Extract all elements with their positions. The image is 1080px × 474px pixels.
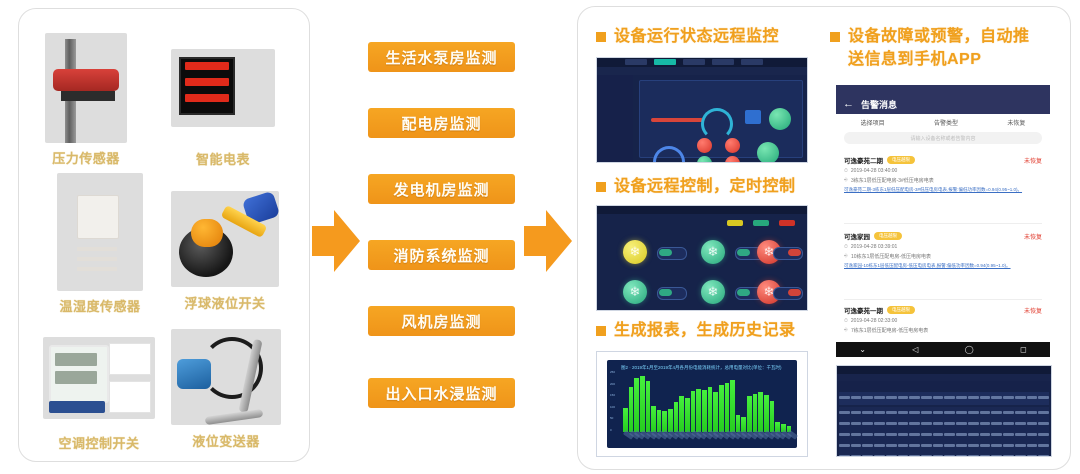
- monitoring-label-generator-room[interactable]: 发电机房监测: [368, 174, 515, 204]
- bullet-square-icon: [830, 32, 840, 42]
- table-cell: [944, 433, 955, 436]
- monitoring-label-fire-system[interactable]: 消防系统监测: [368, 240, 515, 270]
- alarm-type-badge: 电压越限: [887, 156, 915, 164]
- filter-alarm-type[interactable]: 告警类型: [934, 118, 958, 127]
- phone-navigation-bar: ⌄ ◁ ◯ ◻: [836, 342, 1050, 357]
- sensor-grid: 压力传感器 智能电表 温湿度传感器 浮球液位开关: [19, 9, 309, 461]
- alarm-time-row: ⏱ 2019-04-28 02:33:00: [844, 318, 1042, 324]
- list-divider: [844, 299, 1042, 300]
- history-record-table-screenshot[interactable]: [836, 365, 1052, 457]
- table-cell: [886, 444, 897, 447]
- table-cell: [956, 422, 967, 425]
- table-cell: [886, 411, 897, 414]
- table-row[interactable]: [839, 418, 1049, 429]
- sensor-card-meter: 智能电表: [171, 49, 275, 168]
- legend-running: [753, 220, 769, 226]
- chevron-down-icon[interactable]: ⌄: [859, 345, 866, 354]
- chart-y-tick: 0: [610, 428, 612, 432]
- dashboard-tab[interactable]: [683, 59, 705, 65]
- dashboard-tab[interactable]: [712, 59, 734, 65]
- alarm-project-name: 可逸豪苑一期: [844, 305, 883, 315]
- table-row-cells: [839, 440, 1049, 451]
- alarm-device-row: ⎆ 7栋东1层低压配电房-低压电房电表: [844, 327, 1042, 334]
- table-cell: [1027, 433, 1038, 436]
- table-cell: [1038, 422, 1049, 425]
- bar-chart: 图2 · 2019年1月至2019年4月各月份电能消耗统计，总用电量对比(单位：…: [607, 360, 797, 448]
- alarm-type-badge: 电压越限: [874, 232, 902, 240]
- table-cell: [898, 422, 909, 425]
- alarm-device: 10栋东1层低压配电房-低压电房电表: [851, 253, 931, 260]
- feature-heading-text: 生成报表，生成历史记录: [614, 319, 796, 342]
- alarm-detail[interactable]: 可逸豪苑二期-3栋东1层低压配电房-3#低压电房电表,报警:偏低功率因数=0.9…: [844, 187, 1042, 193]
- table-cell: [1027, 422, 1038, 425]
- table-header-cells: [839, 392, 1049, 405]
- chart-bar: [640, 376, 645, 432]
- table-cell: [1038, 411, 1049, 414]
- sensor-card-temp: 温湿度传感器: [57, 173, 143, 315]
- arrow-head: [546, 210, 572, 272]
- chart-bar: [730, 380, 735, 433]
- table-cell: [968, 455, 979, 457]
- table-row-cells: [839, 429, 1049, 440]
- table-cell: [874, 422, 885, 425]
- alarm-time-row: ⏱ 2019-04-28 03:40:00: [844, 168, 1042, 174]
- table-cell: [980, 455, 991, 457]
- sensor-label: 压力传感器: [52, 148, 120, 167]
- pressure-sensor-photo: [45, 33, 127, 143]
- chart-bar: [691, 391, 696, 432]
- chart-bar: [753, 394, 758, 433]
- table-cell: [886, 433, 897, 436]
- feature-heading-text: 设备运行状态远程监控: [614, 25, 779, 48]
- dashboard-tab[interactable]: [625, 59, 647, 65]
- table-cell: [839, 444, 850, 447]
- recents-square-icon[interactable]: ◻: [1020, 345, 1027, 354]
- table-cell: [980, 444, 991, 447]
- status-block-icon: [745, 110, 761, 124]
- ac-accessory-tag-top: [109, 343, 151, 375]
- alarm-device-row: ⎆ 3栋东1层低压配电房-3#低压电房电表: [844, 177, 1042, 184]
- table-cell: [1027, 411, 1038, 414]
- table-cell: [1038, 444, 1049, 447]
- table-cell: [933, 422, 944, 425]
- float-level-switch-photo: [171, 191, 279, 287]
- table-cell: [991, 422, 1002, 425]
- fan-icon-4[interactable]: ❄: [623, 280, 647, 304]
- alarm-list-item[interactable]: 可逸豪苑一期 电压越限 未恢复 ⏱ 2019-04-28 02:33:00 ⎆ …: [844, 305, 1042, 334]
- table-cell: [851, 422, 862, 425]
- transmitter-probe-secondary: [205, 409, 264, 425]
- table-cell: [862, 411, 873, 414]
- home-circle-icon[interactable]: ◯: [965, 345, 974, 354]
- table-cell: [909, 411, 920, 414]
- fan-toggle-6[interactable]: [773, 287, 803, 300]
- alarm-type-badge: 电压越限: [887, 306, 915, 314]
- fan-icon-2[interactable]: ❄: [701, 240, 725, 264]
- table-cell: [1015, 444, 1026, 447]
- bullet-square-icon: [596, 32, 606, 42]
- chart-bar: [657, 410, 662, 432]
- table-cell: [874, 444, 885, 447]
- table-cell: [991, 444, 1002, 447]
- smart-meter-photo: [171, 49, 275, 127]
- feature-heading-mobile-push: 设备故障或预警，自动推 送信息到手机APP: [830, 25, 1056, 71]
- alarm-time-row: ⏱ 2019-04-28 03:39:01: [844, 244, 1042, 250]
- monitoring-label-entrance-flood[interactable]: 出入口水浸监测: [368, 378, 515, 408]
- chart-bar: [758, 392, 763, 432]
- dashboard-tabs: [625, 59, 763, 65]
- table-cell: [991, 455, 1002, 457]
- phone-filter-row: 选择项目 告警类型 未恢复: [836, 114, 1050, 130]
- chart-title: 图2 · 2019年1月至2019年4月各月份电能消耗统计，总用电量对比(单位：…: [621, 365, 782, 371]
- dashboard-tab-active[interactable]: [654, 59, 676, 65]
- sensor-label: 智能电表: [196, 149, 250, 168]
- arrow-right-icon-right: [524, 210, 572, 272]
- table-row-cells: [839, 451, 1049, 457]
- sensor-label: 温湿度传感器: [59, 296, 140, 315]
- table-cell: [956, 444, 967, 447]
- table-row-cells: [839, 407, 1049, 418]
- chart-y-tick: 200: [610, 382, 615, 386]
- table-cell: [1038, 455, 1049, 457]
- table-cell: [1015, 422, 1026, 425]
- table-cell: [956, 433, 967, 436]
- chart-bar: [764, 395, 769, 432]
- monitoring-label-fan-room[interactable]: 风机房监测: [368, 306, 515, 336]
- status-indicator-red: [697, 138, 712, 153]
- fan-icon-1[interactable]: ❄: [623, 240, 647, 264]
- alarm-time: 2019-04-28 02:33:00: [851, 318, 897, 324]
- table-cell: [921, 433, 932, 436]
- clock-icon: ⏱: [844, 244, 848, 250]
- table-cell: [862, 455, 873, 457]
- chart-y-axis: 050100150200250: [610, 374, 622, 432]
- table-cell: [956, 455, 967, 457]
- chart-bar: [634, 378, 639, 432]
- table-cell: [921, 411, 932, 414]
- table-cell: [874, 455, 885, 457]
- table-cell: [898, 455, 909, 457]
- chart-bars: [623, 376, 791, 432]
- chart-bar: [662, 411, 667, 432]
- bullet-square-icon: [596, 182, 606, 192]
- table-cell: [839, 422, 850, 425]
- table-cell: [839, 433, 850, 436]
- table-cell: [898, 444, 909, 447]
- table-row[interactable]: [839, 440, 1049, 451]
- table-header-row: [839, 392, 1049, 405]
- alarm-project-name: 可逸家园: [844, 231, 870, 241]
- chart-bar: [713, 392, 718, 432]
- table-row[interactable]: [839, 451, 1049, 457]
- table-cell: [886, 455, 897, 457]
- chart-bar: [651, 406, 656, 432]
- clock-icon: ⏱: [844, 318, 848, 324]
- table-cell: [980, 411, 991, 414]
- table-breadcrumb: [837, 374, 1051, 381]
- level-slider[interactable]: [651, 118, 703, 122]
- phone-app-bar: ← 告警消息: [836, 94, 1050, 114]
- sensor-card-float: 浮球液位开关: [171, 191, 279, 312]
- table-cell: [968, 444, 979, 447]
- alarm-header: 可逸豪苑一期 电压越限 未恢复: [844, 305, 1042, 315]
- alarm-device-row: ⎆ 10栋东1层低压配电房-低压电房电表: [844, 253, 1042, 260]
- table-cell: [1038, 433, 1049, 436]
- table-cell: [980, 422, 991, 425]
- table-cell: [956, 411, 967, 414]
- alarm-detail[interactable]: 可逸家园-10栋东1层低压配电房-低压电房电表,报警:偏低功率因数=0.94(0…: [844, 263, 1042, 269]
- feature-heading-remote-control: 设备远程控制，定时控制: [596, 175, 836, 198]
- table-cell: [1003, 422, 1014, 425]
- chart-bar: [646, 381, 651, 432]
- filter-project[interactable]: 选择项目: [861, 118, 885, 127]
- alarm-status-badge: 未恢复: [1024, 232, 1042, 241]
- ac-button-strip: [49, 401, 105, 413]
- table-cell: [886, 422, 897, 425]
- ac-control-switch-photo: [43, 337, 155, 419]
- table-cell: [909, 455, 920, 457]
- control-topbar: [597, 206, 807, 214]
- alarm-time: 2019-04-28 03:39:01: [851, 244, 897, 250]
- bullet-square-icon: [596, 326, 606, 336]
- sensor-card-pressure: 压力传感器: [45, 33, 127, 167]
- chart-bar: [747, 396, 752, 432]
- status-indicator-green: [769, 108, 791, 130]
- device-icon: ⎆: [844, 327, 848, 334]
- table-cell: [839, 411, 850, 414]
- table-cell: [909, 422, 920, 425]
- chart-bar: [702, 390, 707, 432]
- list-divider: [844, 223, 1042, 224]
- chart-canvas: 图2 · 2019年1月至2019年4月各月份电能消耗统计，总用电量对比(单位：…: [597, 352, 807, 456]
- status-indicator-red: [725, 138, 740, 153]
- platform-features-panel: 设备运行状态远程监控 设备故障或预警，自动推 送信息到手机APP 设备远程控制，…: [577, 6, 1071, 470]
- table-cell: [944, 444, 955, 447]
- table-cell: [991, 411, 1002, 414]
- table-cell: [851, 411, 862, 414]
- table-cell: [921, 444, 932, 447]
- table-cell: [898, 433, 909, 436]
- sensor-label: 空调控制开关: [58, 433, 139, 452]
- dashboard-tab[interactable]: [741, 59, 763, 65]
- chart-y-tick: 250: [610, 370, 615, 374]
- temp-humidity-sensor-photo: [57, 173, 143, 291]
- chart-bar: [770, 401, 775, 433]
- chart-bar: [679, 396, 684, 432]
- chart-y-tick: 150: [610, 393, 615, 397]
- level-transmitter-photo: [171, 329, 281, 425]
- table-topbar: [837, 366, 1051, 374]
- table-cell: [874, 411, 885, 414]
- chart-y-tick: 50: [610, 416, 613, 420]
- table-cell: [944, 422, 955, 425]
- table-cell: [1015, 411, 1026, 414]
- alarm-header: 可逸家园 电压越限 未恢复: [844, 231, 1042, 241]
- chart-x-axis: [623, 434, 791, 446]
- table-cell: [991, 433, 1002, 436]
- fan-toggle-1[interactable]: [657, 247, 687, 260]
- clock-icon: ⏱: [844, 168, 848, 174]
- table-cell: [1003, 455, 1014, 457]
- sensor-card-level: 液位变送器: [171, 329, 281, 450]
- device-icon: ⎆: [844, 177, 848, 184]
- table-row-cells: [839, 418, 1049, 429]
- alarm-device: 3栋东1层低压配电房-3#低压电房电表: [851, 177, 934, 184]
- chart-bar: [719, 385, 724, 432]
- device-icon: ⎆: [844, 253, 848, 260]
- dashboard-subbar: [597, 67, 807, 75]
- table-cell: [851, 444, 862, 447]
- chart-bar: [685, 398, 690, 432]
- table-row[interactable]: [839, 429, 1049, 440]
- alarm-list-item[interactable]: 可逸家园 电压越限 未恢复 ⏱ 2019-04-28 03:39:01 ⎆ 10…: [844, 231, 1042, 269]
- alarm-status-badge: 未恢复: [1024, 156, 1042, 165]
- remote-control-screenshot[interactable]: ❄ ❄ ❄ ❄ ❄ ❄: [596, 205, 808, 311]
- table-cell: [898, 411, 909, 414]
- pressure-gauge-icon: [701, 108, 733, 140]
- table-cell: [933, 411, 944, 414]
- chart-bar: [668, 409, 673, 432]
- back-triangle-icon[interactable]: ◁: [912, 345, 918, 354]
- chart-bar: [674, 402, 679, 432]
- infographic-root: 压力传感器 智能电表 温湿度传感器 浮球液位开关: [0, 0, 1080, 474]
- alarm-device: 7栋东1层低压配电房-低压电房电表: [851, 327, 928, 334]
- fan-toggle-3[interactable]: [773, 247, 803, 260]
- table-filter-row[interactable]: [837, 381, 1051, 390]
- sensor-card-ac: 空调控制开关: [43, 337, 155, 452]
- chart-bar: [623, 408, 628, 433]
- table-cell: [1003, 444, 1014, 447]
- fan-icon-5[interactable]: ❄: [701, 280, 725, 304]
- chart-y-tick: 100: [610, 405, 615, 409]
- feature-heading-text: 设备远程控制，定时控制: [614, 175, 796, 198]
- alarm-status-badge: 未恢复: [1024, 306, 1042, 315]
- legend-fault: [779, 220, 795, 226]
- mobile-app-alarm-screenshot[interactable]: ← 告警消息 选择项目 告警类型 未恢复 请输入设备名称或者告警内容 可逸豪苑二…: [836, 85, 1050, 357]
- table-cell: [968, 411, 979, 414]
- dashboard-sidebar: [597, 75, 633, 162]
- feature-heading-remote-monitoring: 设备运行状态远程监控: [596, 25, 836, 48]
- arrow-right-icon-left: [312, 210, 360, 272]
- table-cell: [909, 444, 920, 447]
- sensor-label: 液位变送器: [192, 431, 260, 450]
- legend-standby: [727, 220, 743, 226]
- feature-heading-report-history: 生成报表，生成历史记录: [596, 319, 836, 342]
- chart-bar: [708, 387, 713, 433]
- table-cell: [839, 455, 850, 457]
- table-cell: [933, 444, 944, 447]
- alarm-list-item[interactable]: 可逸豪苑二期 电压越限 未恢复 ⏱ 2019-04-28 03:40:00 ⎆ …: [844, 155, 1042, 193]
- table-cell: [968, 433, 979, 436]
- phone-search-input[interactable]: 请输入设备名称或者告警内容: [844, 132, 1042, 144]
- phone-page-title: 告警消息: [861, 98, 897, 111]
- device-status-dashboard-screenshot[interactable]: [596, 57, 808, 163]
- fan-toggle-4[interactable]: [657, 287, 687, 300]
- table-cell: [1027, 455, 1038, 457]
- table-row[interactable]: [839, 407, 1049, 418]
- table-cell: [933, 455, 944, 457]
- table-cell: [874, 433, 885, 436]
- feature-heading-text: 设备故障或预警，自动推 送信息到手机APP: [848, 25, 1030, 71]
- table-cell: [980, 433, 991, 436]
- alarm-header: 可逸豪苑二期 电压越限 未恢复: [844, 155, 1042, 165]
- table-cell: [921, 422, 932, 425]
- ac-accessory-tag-bottom: [109, 381, 151, 413]
- table-cell: [968, 422, 979, 425]
- table-cell: [862, 444, 873, 447]
- table-cell: [921, 455, 932, 457]
- table-cell: [933, 433, 944, 436]
- alarm-project-name: 可逸豪苑二期: [844, 155, 883, 165]
- energy-report-chart-screenshot[interactable]: 图2 · 2019年1月至2019年4月各月份电能消耗统计，总用电量对比(单位：…: [596, 351, 808, 457]
- chart-bar: [696, 389, 701, 432]
- filter-status[interactable]: 未恢复: [1007, 118, 1025, 127]
- table-cell: [851, 455, 862, 457]
- table-cell: [944, 411, 955, 414]
- table-cell: [1003, 411, 1014, 414]
- monitoring-label-water-pump-room[interactable]: 生活水泵房监测: [368, 42, 515, 72]
- table-cell: [1015, 433, 1026, 436]
- table-cell: [851, 433, 862, 436]
- table-cell: [862, 433, 873, 436]
- status-indicator-green: [757, 142, 779, 163]
- table-cell: [862, 422, 873, 425]
- table-surface: [837, 366, 1051, 456]
- sensor-device-panel: 压力传感器 智能电表 温湿度传感器 浮球液位开关: [18, 8, 310, 462]
- sensor-label: 浮球液位开关: [184, 293, 265, 312]
- phone-status-bar: [836, 85, 1050, 94]
- table-cell: [909, 433, 920, 436]
- chart-bar: [629, 387, 634, 433]
- monitoring-label-power-distribution-room[interactable]: 配电房监测: [368, 108, 515, 138]
- table-cell: [1027, 444, 1038, 447]
- chart-bar: [725, 383, 730, 432]
- table-cell: [1003, 433, 1014, 436]
- table-cell: [944, 455, 955, 457]
- back-arrow-icon[interactable]: ←: [843, 99, 854, 110]
- table-cell: [1015, 455, 1026, 457]
- alarm-time: 2019-04-28 03:40:00: [851, 168, 897, 174]
- arrow-head: [334, 210, 360, 272]
